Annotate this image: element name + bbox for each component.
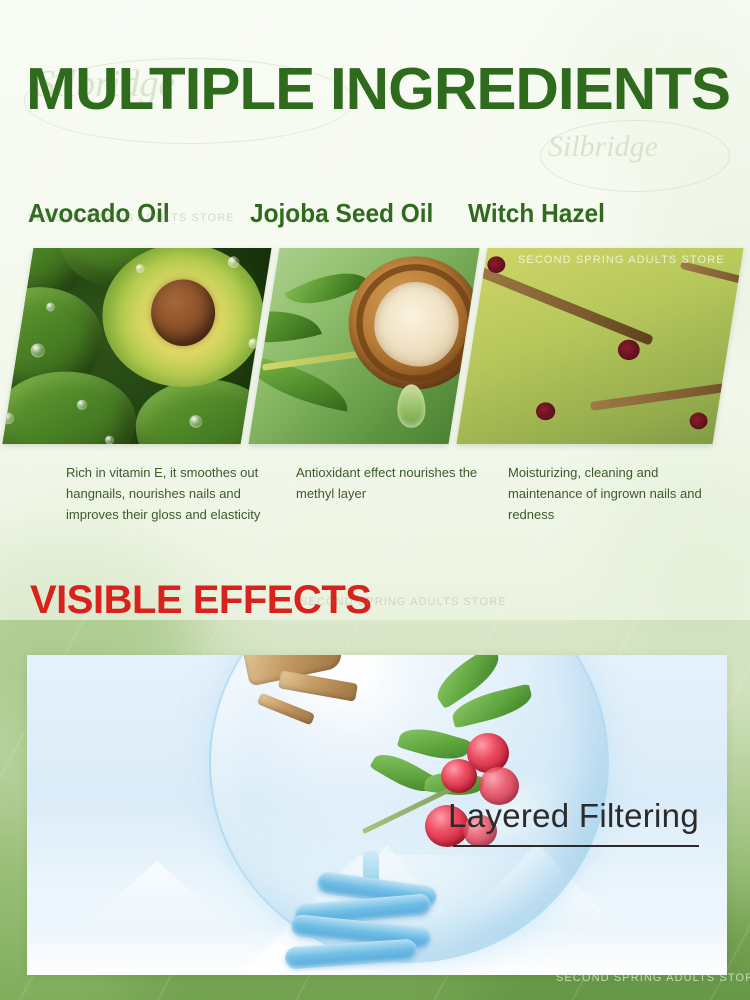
ingredient-photo-row (0, 248, 750, 448)
ingredient-name-row: Avocado Oil Jojoba Seed Oil Witch Hazel (0, 198, 750, 232)
ingredient-photo-avocado (2, 248, 271, 444)
ingredient-caption-witch-hazel: Moisturizing, cleaning and maintenance o… (508, 462, 713, 525)
ingredient-name-witch-hazel: Witch Hazel (468, 198, 605, 228)
ingredient-photo-jojoba (248, 248, 479, 444)
cranberry (441, 759, 477, 793)
effects-heading: VISIBLE EFFECTS (30, 578, 371, 622)
ingredient-caption-jojoba: Antioxidant effect nourishes the methyl … (296, 462, 501, 504)
ingredient-photo-witch-hazel (456, 248, 743, 444)
ingredient-name-jojoba-seed-oil: Jojoba Seed Oil (250, 198, 433, 228)
ingredients-heading: MULTIPLE INGREDIENTS (26, 58, 730, 120)
effects-hero-image: Layered Filtering (27, 655, 727, 975)
hero-label-underline (453, 845, 699, 847)
hero-label: Layered Filtering (448, 797, 699, 835)
ingredient-caption-avocado: Rich in vitamin E, it smoothes out hangn… (66, 462, 266, 525)
ingredient-name-avocado-oil: Avocado Oil (28, 198, 170, 228)
product-infographic: Silbridge Silbridge MULTIPLE INGREDIENTS… (0, 0, 750, 1000)
